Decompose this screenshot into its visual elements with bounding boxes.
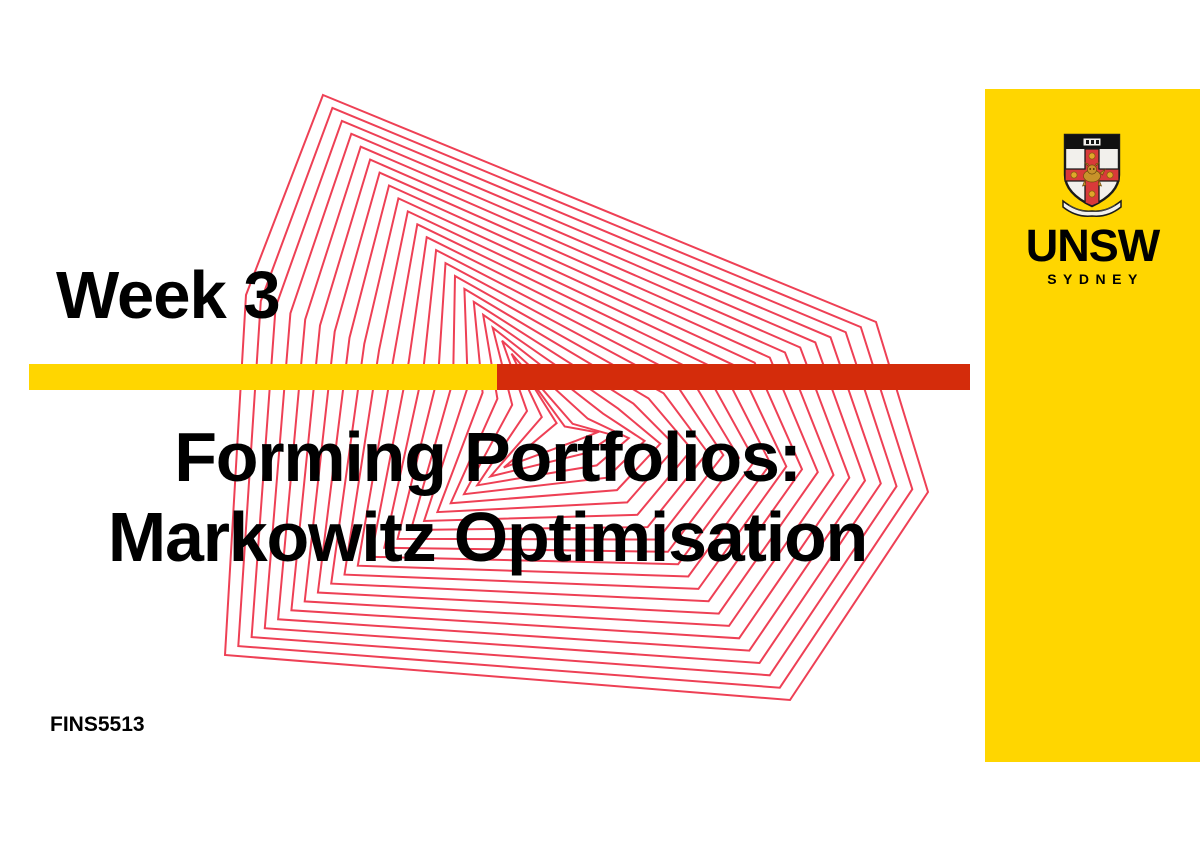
divider-bar-yellow-segment	[29, 364, 497, 390]
unsw-brand-panel: UNSW SYDNEY	[985, 89, 1200, 762]
divider-bar-red-segment	[497, 364, 970, 390]
unsw-wordmark: UNSW	[1026, 223, 1159, 268]
page-title: Forming Portfolios: Markowitz Optimisati…	[0, 418, 975, 578]
title-line-2: Markowitz Optimisation	[0, 498, 975, 578]
slide-canvas: Week 3 Forming Portfolios: Markowitz Opt…	[0, 0, 1200, 849]
unsw-campus-label: SYDNEY	[1041, 272, 1144, 286]
title-line-1: Forming Portfolios:	[0, 418, 975, 498]
week-label: Week 3	[56, 262, 280, 329]
unsw-logo: UNSW SYDNEY	[1026, 131, 1159, 286]
course-code: FINS5513	[50, 713, 145, 737]
unsw-crest-icon	[1061, 131, 1123, 217]
divider-bar	[29, 364, 970, 390]
